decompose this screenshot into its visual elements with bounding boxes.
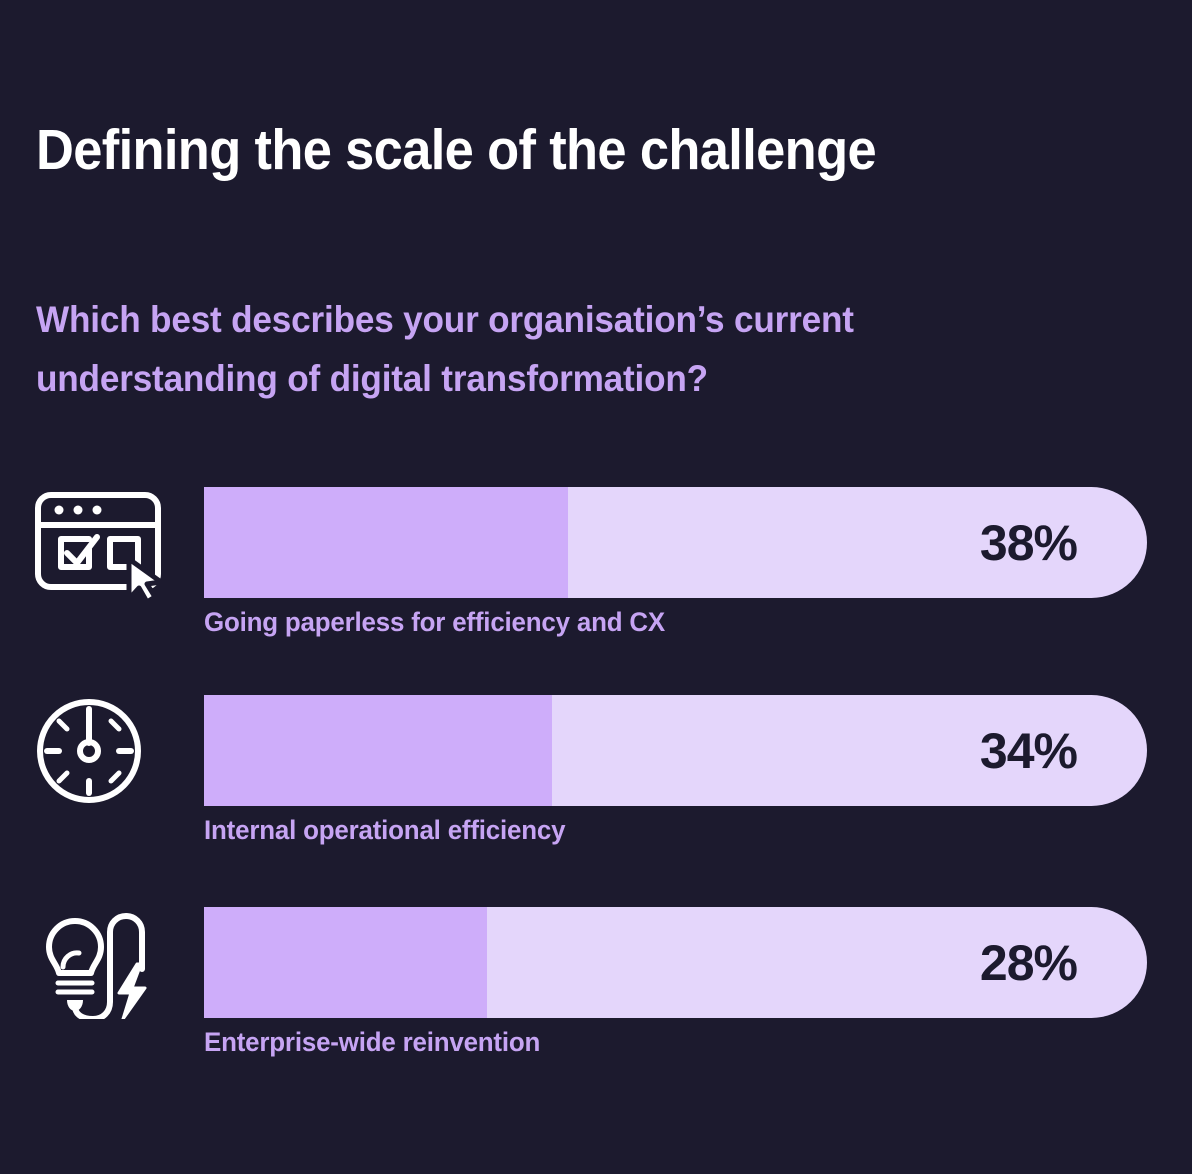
bar-fill-1	[204, 487, 568, 598]
bar-label-1: Going paperless for efficiency and CX	[204, 607, 665, 638]
bar-value-3: 28%	[980, 938, 1077, 988]
bar-value-1: 38%	[980, 518, 1077, 568]
bar-fill-3	[204, 907, 487, 1018]
browser-checklist-cursor-icon	[33, 487, 173, 599]
bar-track-3: 28%	[204, 907, 1147, 1018]
infographic-page: Defining the scale of the challenge Whic…	[0, 0, 1192, 1174]
bar-value-2: 34%	[980, 726, 1077, 776]
lightbulb-bolt-icon	[33, 907, 173, 1019]
bar-label-3: Enterprise-wide reinvention	[204, 1027, 540, 1058]
bar-chart: 38% Going paperless for efficiency and C…	[0, 0, 1192, 1174]
bar-label-2: Internal operational efficiency	[204, 815, 565, 846]
bar-track-2: 34%	[204, 695, 1147, 806]
clock-icon	[33, 695, 173, 807]
bar-track-1: 38%	[204, 487, 1147, 598]
bar-fill-2	[204, 695, 552, 806]
